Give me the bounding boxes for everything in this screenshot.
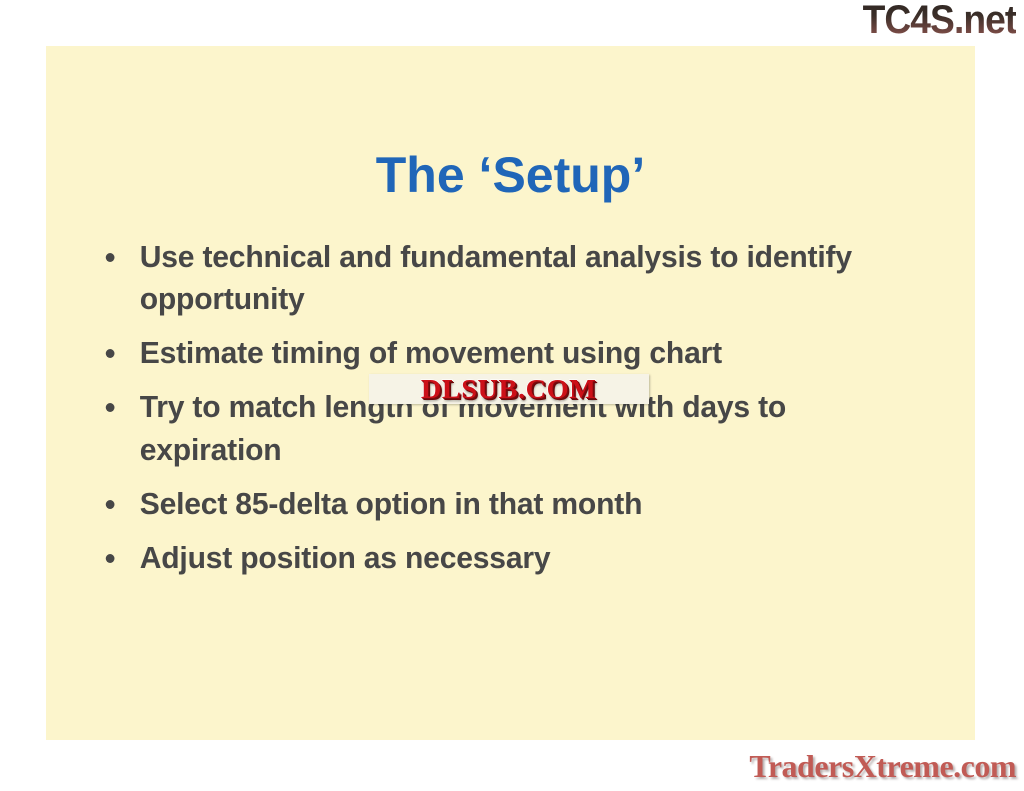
list-item-label: Select 85-delta option in that month <box>140 486 643 521</box>
site-logo: TC4S.net <box>862 0 1016 43</box>
page-title: The ‘Setup’ <box>46 148 975 203</box>
bullet-dot-icon <box>106 253 115 262</box>
bullet-dot-icon <box>106 403 115 412</box>
list-item: Adjust position as necessary <box>98 537 918 579</box>
bullet-dot-icon <box>106 554 115 563</box>
list-item: Select 85-delta option in that month <box>98 483 918 525</box>
list-item: Use technical and fundamental analysis t… <box>98 236 918 320</box>
list-item: Estimate timing of movement using chart <box>98 332 918 374</box>
dlsub-watermark: DLSUB.COM <box>369 374 649 404</box>
list-item-label: Estimate timing of movement using chart <box>140 335 722 370</box>
list-item-label: Adjust position as necessary <box>140 540 551 575</box>
watermark-label: DLSUB.COM <box>421 374 597 404</box>
footer-logo: TradersXtreme.com <box>749 748 1016 785</box>
bullet-dot-icon <box>106 500 115 509</box>
bullet-dot-icon <box>106 349 115 358</box>
list-item-label: Use technical and fundamental analysis t… <box>140 239 852 316</box>
bullet-list: Use technical and fundamental analysis t… <box>98 236 943 591</box>
